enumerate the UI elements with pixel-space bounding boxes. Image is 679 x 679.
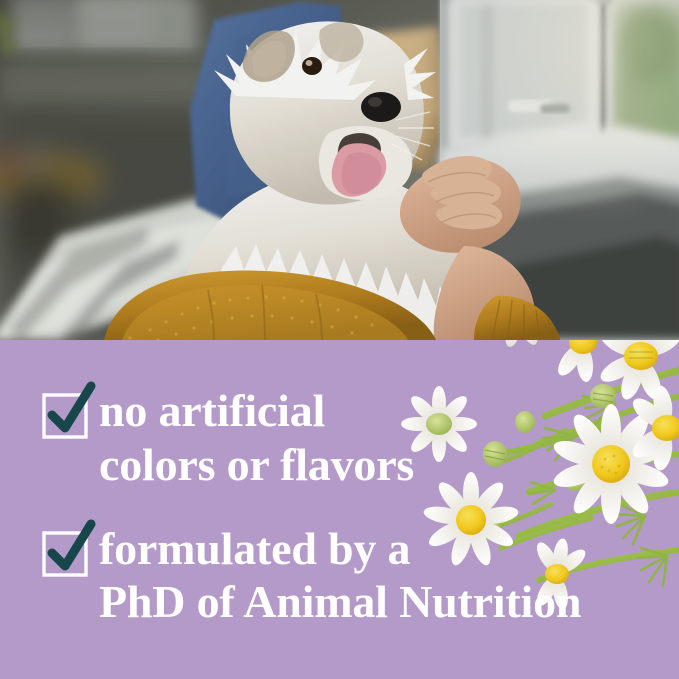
- list-item: formulated by a PhD of Animal Nutrition: [40, 522, 660, 630]
- checked-checkbox-icon: [40, 391, 86, 437]
- product-benefits-banner: no artificial colors or flavors formulat…: [0, 0, 679, 679]
- benefits-list: no artificial colors or flavors formulat…: [40, 384, 660, 629]
- list-item-label: formulated by a PhD of Animal Nutrition: [99, 522, 581, 630]
- checked-checkbox-icon: [40, 529, 86, 575]
- lifestyle-photo: [0, 0, 679, 340]
- benefits-panel: no artificial colors or flavors formulat…: [0, 340, 679, 679]
- list-item-label: no artificial colors or flavors: [99, 384, 414, 492]
- list-item: no artificial colors or flavors: [40, 384, 660, 492]
